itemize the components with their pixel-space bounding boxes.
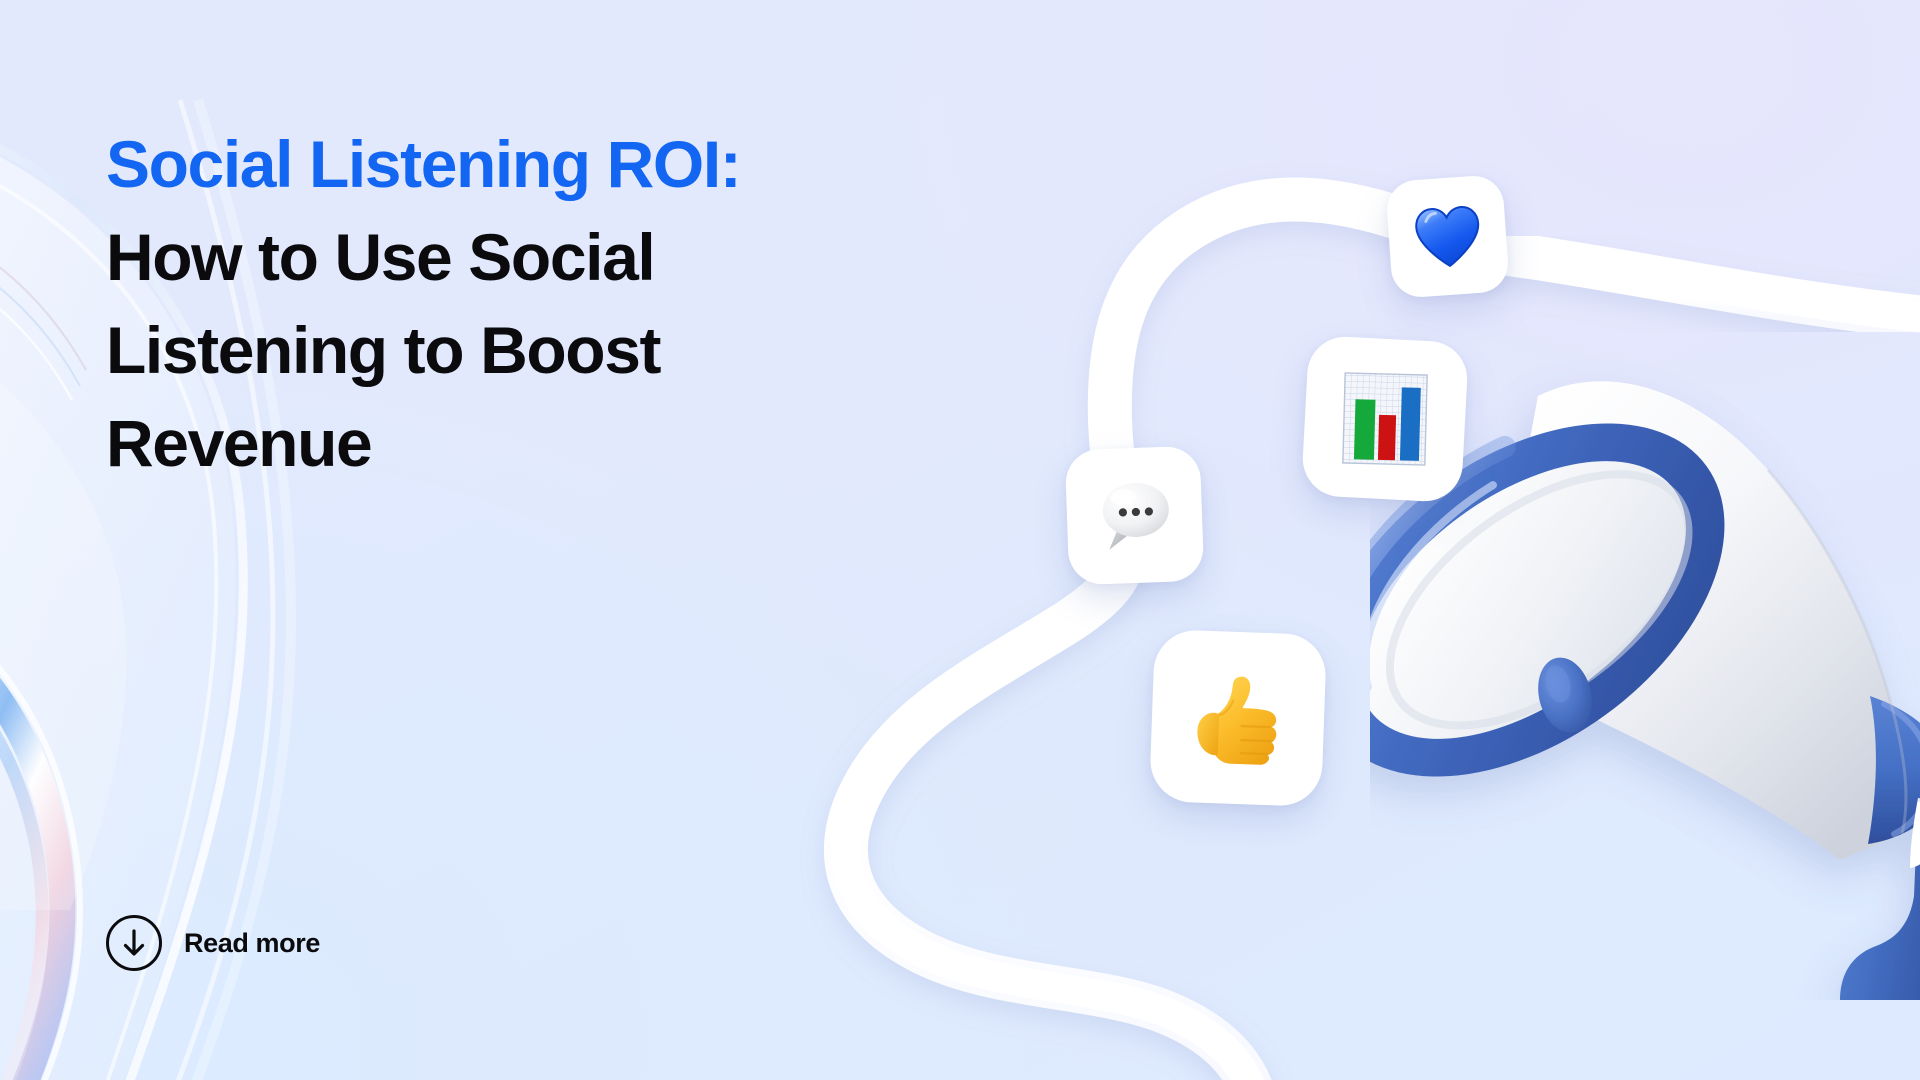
- blue-heart-icon: [1412, 203, 1482, 269]
- speech-balloon-icon: [1094, 477, 1175, 554]
- emoji-card-bar-chart: [1301, 335, 1469, 503]
- headline-line-2: How to Use Social: [106, 211, 1026, 304]
- emoji-card-speech-balloon: [1065, 446, 1205, 586]
- read-more-button[interactable]: Read more: [106, 915, 320, 971]
- arrow-down-circle-icon[interactable]: [106, 915, 162, 971]
- headline-line-1: Social Listening ROI:: [106, 118, 1026, 211]
- promo-banner: Social Listening ROI: How to Use Social …: [0, 0, 1920, 1080]
- emoji-card-blue-heart: [1385, 174, 1510, 299]
- emoji-card-thumbs-up: [1149, 629, 1327, 807]
- headline-line-3: Listening to Boost: [106, 304, 1026, 397]
- headline-line-4: Revenue: [106, 397, 1026, 490]
- read-more-label: Read more: [184, 928, 320, 959]
- headline-block: Social Listening ROI: How to Use Social …: [106, 118, 1026, 490]
- thumbs-up-icon: [1187, 668, 1288, 767]
- bar-chart-icon: [1336, 368, 1435, 471]
